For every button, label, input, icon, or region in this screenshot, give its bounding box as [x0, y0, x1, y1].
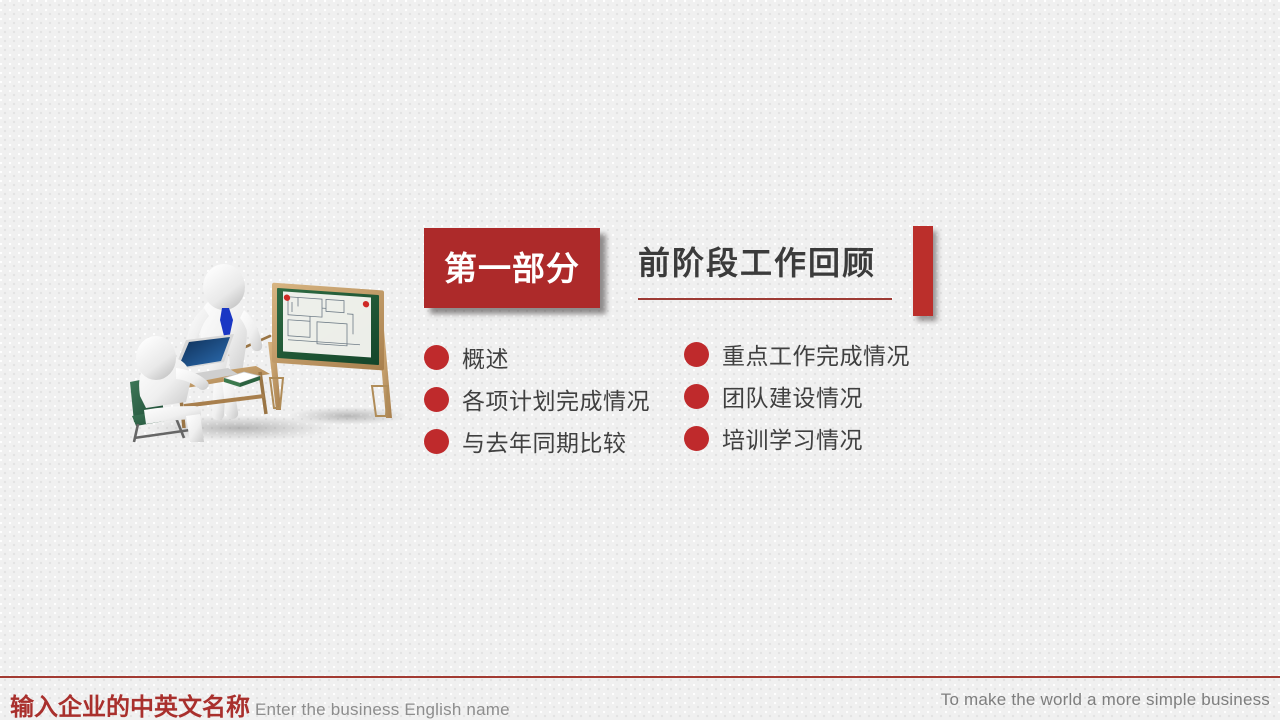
bullet-dot-icon	[424, 387, 449, 412]
footer-divider	[0, 676, 1280, 678]
footer-company-name-en: Enter the business English name	[255, 700, 510, 720]
list-item-label: 培训学习情况	[722, 421, 863, 455]
slide-footer: 输入企业的中英文名称 Enter the business English na…	[0, 676, 1280, 720]
seated-figure-head	[136, 336, 176, 380]
bullet-dot-icon	[424, 345, 449, 370]
section-number-badge: 第一部分	[424, 228, 600, 308]
footer-company-name-cn: 输入企业的中英文名称	[10, 687, 250, 720]
list-item-label: 概述	[462, 340, 509, 374]
bullet-list-left: 概述 各项计划完成情况 与去年同期比较	[424, 336, 650, 462]
list-item[interactable]: 培训学习情况	[684, 417, 910, 459]
list-item[interactable]: 与去年同期比较	[424, 420, 650, 462]
list-item[interactable]: 概述	[424, 336, 650, 378]
presentation-slide: 第一部分 前阶段工作回顾 概述 各项计划完成情况 与去年同期比较 重点工作完成情…	[0, 0, 1280, 720]
footer-tagline: To make the world a more simple business	[941, 690, 1270, 710]
bullet-dot-icon	[684, 342, 709, 367]
list-item[interactable]: 团队建设情况	[684, 375, 910, 417]
title-underline	[638, 298, 892, 300]
list-item-label: 各项计划完成情况	[462, 382, 650, 416]
accent-bar	[913, 226, 933, 316]
footer-company-block: 输入企业的中英文名称 Enter the business English na…	[10, 687, 510, 720]
section-number-label: 第一部分	[444, 252, 580, 285]
list-item[interactable]: 重点工作完成情况	[684, 333, 910, 375]
slide-title: 前阶段工作回顾	[638, 238, 876, 284]
standing-figure-head	[203, 264, 245, 310]
bullet-dot-icon	[684, 384, 709, 409]
list-item[interactable]: 各项计划完成情况	[424, 378, 650, 420]
bullet-dot-icon	[684, 426, 709, 451]
classroom-training-illustration	[120, 238, 412, 443]
list-item-label: 重点工作完成情况	[722, 337, 910, 371]
list-item-label: 与去年同期比较	[462, 424, 627, 458]
bullet-list-right: 重点工作完成情况 团队建设情况 培训学习情况	[684, 333, 910, 459]
bullet-dot-icon	[424, 429, 449, 454]
list-item-label: 团队建设情况	[722, 379, 863, 413]
